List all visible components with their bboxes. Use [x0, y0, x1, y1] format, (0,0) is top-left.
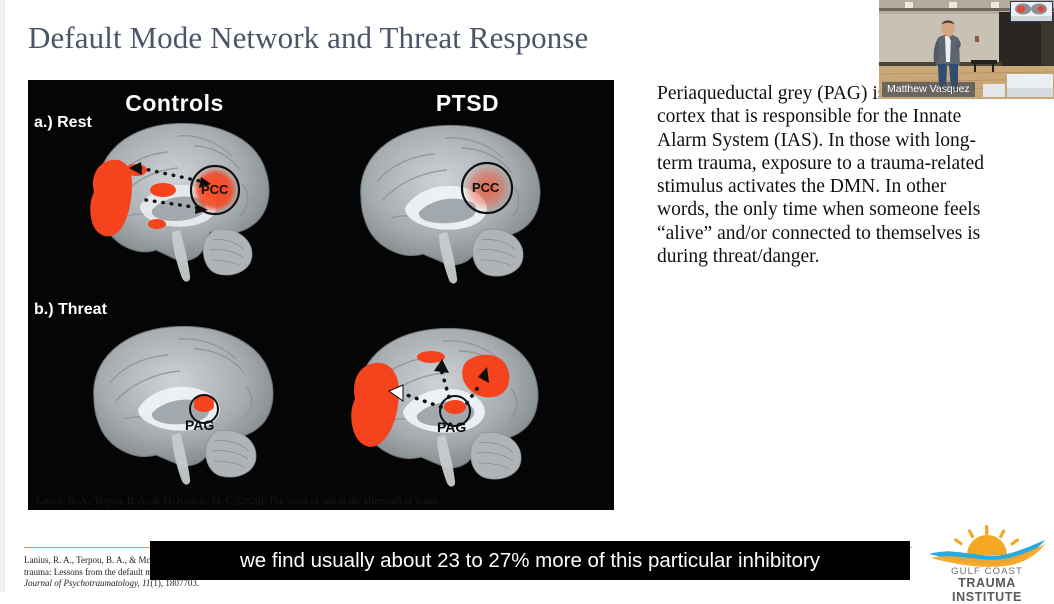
caption-bar: we find usually about 23 to 27% more of … [150, 541, 910, 580]
roi-label-pcc-ptsd-rest: PCC [472, 180, 499, 195]
logo-text-line-2: TRAUMA INSTITUTE [925, 576, 1049, 604]
figure-panel-ptsd-rest: PTSD [321, 80, 614, 289]
caption-text: we find usually about 23 to 27% more of … [240, 549, 820, 573]
brain-sagittal-controls-rest [28, 80, 321, 289]
citation-journal: Journal of Psychotraumatology, 11 [24, 578, 150, 588]
figure-panel-ptsd-threat: PAG [321, 289, 614, 498]
brain-sagittal-ptsd-rest [321, 80, 614, 289]
brain-sagittal-controls-threat [28, 289, 321, 498]
roi-label-pag-controls-threat: PAG [185, 417, 214, 433]
gulf-coast-trauma-institute-logo: GULF COAST TRAUMA INSTITUTE [925, 524, 1049, 588]
slide-body-text: Periaqueductal grey (PAG) is a sublimina… [657, 82, 992, 268]
page-title: Default Mode Network and Threat Response [28, 20, 588, 56]
slide-canvas: Default Mode Network and Threat Response… [0, 0, 1054, 592]
brain-figure: Controls a.) Rest [28, 80, 614, 510]
figure-panel-controls-rest: Controls a.) Rest [28, 80, 321, 289]
roi-label-pag-ptsd-threat: PAG [437, 419, 466, 435]
speaker-video-overlay[interactable]: Matthew Vasquez [879, 0, 1054, 99]
page-left-edge [0, 0, 5, 592]
figure-panel-controls-threat: b.) Threat [28, 289, 321, 498]
pip-brain-slide [1011, 2, 1052, 21]
speaker-name-label: Matthew Vasquez [882, 82, 975, 97]
brain-sagittal-ptsd-threat [321, 289, 614, 498]
roi-label-pcc-controls-rest: PCC [201, 182, 228, 197]
figure-inner-citation: Lanius, R. A., Terpou, B. A., & McKinnon… [36, 496, 611, 507]
sunrise-wave-icon [925, 524, 1049, 568]
picture-in-picture-thumbnail[interactable] [1010, 1, 1053, 22]
